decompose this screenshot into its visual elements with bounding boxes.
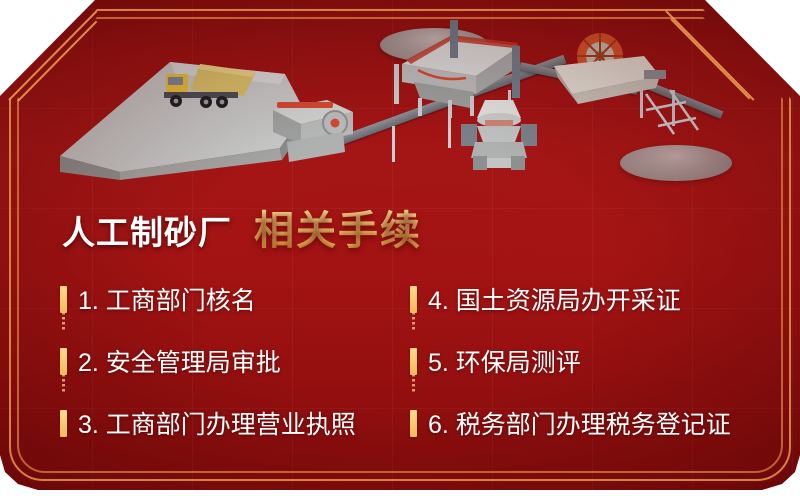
cone-crusher <box>455 92 555 172</box>
list-item[interactable]: 4. 国土资源局办开采证 <box>410 268 760 330</box>
dotted-connector <box>412 312 415 330</box>
conveyor-leg <box>392 126 395 162</box>
banner-title: 人工制砂厂 相关手续 <box>62 198 422 256</box>
red-banner: 人工制砂厂 相关手续 1. 工商部门核名 4. 国土资源局办开采证 2. 安全管… <box>0 0 800 490</box>
list-item-label: 4. 国土资源局办开采证 <box>428 281 681 317</box>
title-gold-text: 相关手续 <box>254 198 422 256</box>
banner-stage: 人工制砂厂 相关手续 1. 工商部门核名 4. 国土资源局办开采证 2. 安全管… <box>0 0 800 500</box>
gold-bar-marker <box>410 410 417 437</box>
gold-bar-marker <box>60 348 67 375</box>
procedure-list: 1. 工商部门核名 4. 国土资源局办开采证 2. 安全管理局审批 5. 环保局… <box>60 268 760 454</box>
dump-truck <box>160 60 270 112</box>
dotted-connector <box>62 374 65 392</box>
jaw-crusher <box>265 88 370 168</box>
dotted-connector <box>62 312 65 330</box>
gold-bar-marker <box>60 410 67 437</box>
list-item[interactable]: 1. 工商部门核名 <box>60 268 410 330</box>
title-white-text: 人工制砂厂 <box>62 206 232 254</box>
gold-bar-marker <box>410 348 417 375</box>
gold-bar-marker <box>410 286 417 313</box>
list-item-label: 3. 工商部门办理营业执照 <box>78 405 356 441</box>
list-item[interactable]: 5. 环保局测评 <box>410 330 760 392</box>
gold-bar-marker <box>60 286 67 313</box>
list-item-label: 5. 环保局测评 <box>428 343 581 379</box>
list-item-label: 2. 安全管理局审批 <box>78 343 281 379</box>
sand-pile-icon <box>620 145 732 181</box>
list-item-label: 6. 税务部门办理税务登记证 <box>428 405 731 441</box>
list-item[interactable]: 6. 税务部门办理税务登记证 <box>410 392 760 454</box>
dotted-connector <box>412 374 415 392</box>
list-item-label: 1. 工商部门核名 <box>78 281 256 317</box>
support-railing <box>640 88 720 140</box>
list-item[interactable]: 3. 工商部门办理营业执照 <box>60 392 410 454</box>
list-item[interactable]: 2. 安全管理局审批 <box>60 330 410 392</box>
